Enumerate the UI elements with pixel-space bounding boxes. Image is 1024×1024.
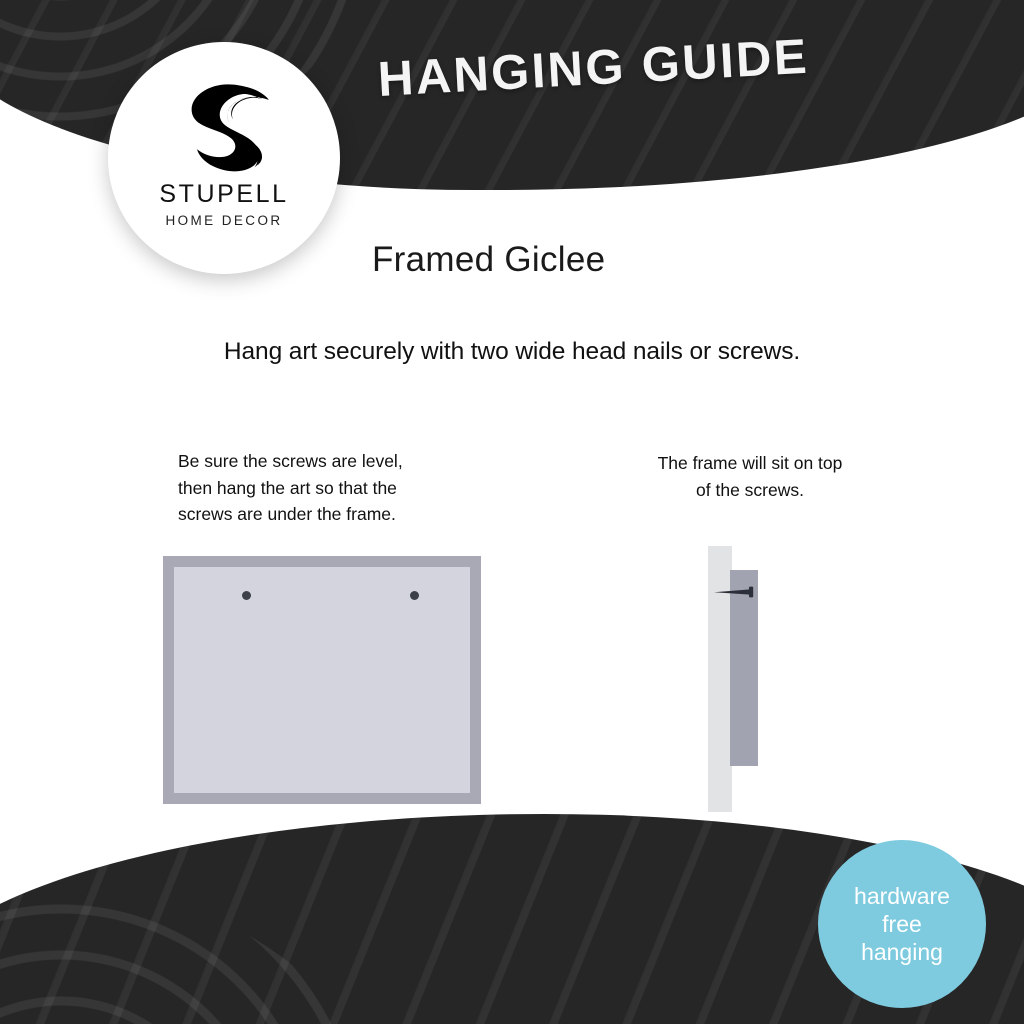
front-view-mat bbox=[174, 567, 470, 793]
badge-line-3: hanging bbox=[861, 938, 943, 966]
caption-line: then hang the art so that the bbox=[178, 475, 478, 502]
brand-logo-badge: STUPELL HOME DECOR bbox=[108, 42, 340, 274]
brand-name: STUPELL bbox=[159, 180, 288, 209]
front-view-diagram bbox=[163, 556, 481, 804]
hanging-guide-page: HANGING GUIDE STUPELL HOME DECOR Framed … bbox=[0, 0, 1024, 1024]
screw-dot-icon bbox=[242, 591, 251, 600]
hardware-free-badge: hardware free hanging bbox=[818, 840, 986, 1008]
lead-instruction: Hang art securely with two wide head nai… bbox=[0, 338, 1024, 366]
product-title: Framed Giclee bbox=[372, 240, 605, 280]
caption-line: screws are under the frame. bbox=[178, 501, 478, 528]
caption-line: Be sure the screws are level, bbox=[178, 448, 478, 475]
side-view-frame bbox=[730, 570, 758, 766]
nail-side-icon bbox=[714, 586, 760, 598]
brand-tagline: HOME DECOR bbox=[165, 213, 282, 228]
badge-line-2: free bbox=[882, 910, 922, 938]
screw-dot-icon bbox=[410, 591, 419, 600]
side-view-diagram bbox=[708, 546, 772, 812]
badge-line-1: hardware bbox=[854, 882, 950, 910]
stupell-swoosh-logo-icon bbox=[170, 70, 278, 178]
side-view-caption: The frame will sit on top of the screws. bbox=[600, 450, 900, 503]
front-view-caption: Be sure the screws are level, then hang … bbox=[178, 448, 478, 528]
caption-line: of the screws. bbox=[600, 477, 900, 504]
caption-line: The frame will sit on top bbox=[600, 450, 900, 477]
